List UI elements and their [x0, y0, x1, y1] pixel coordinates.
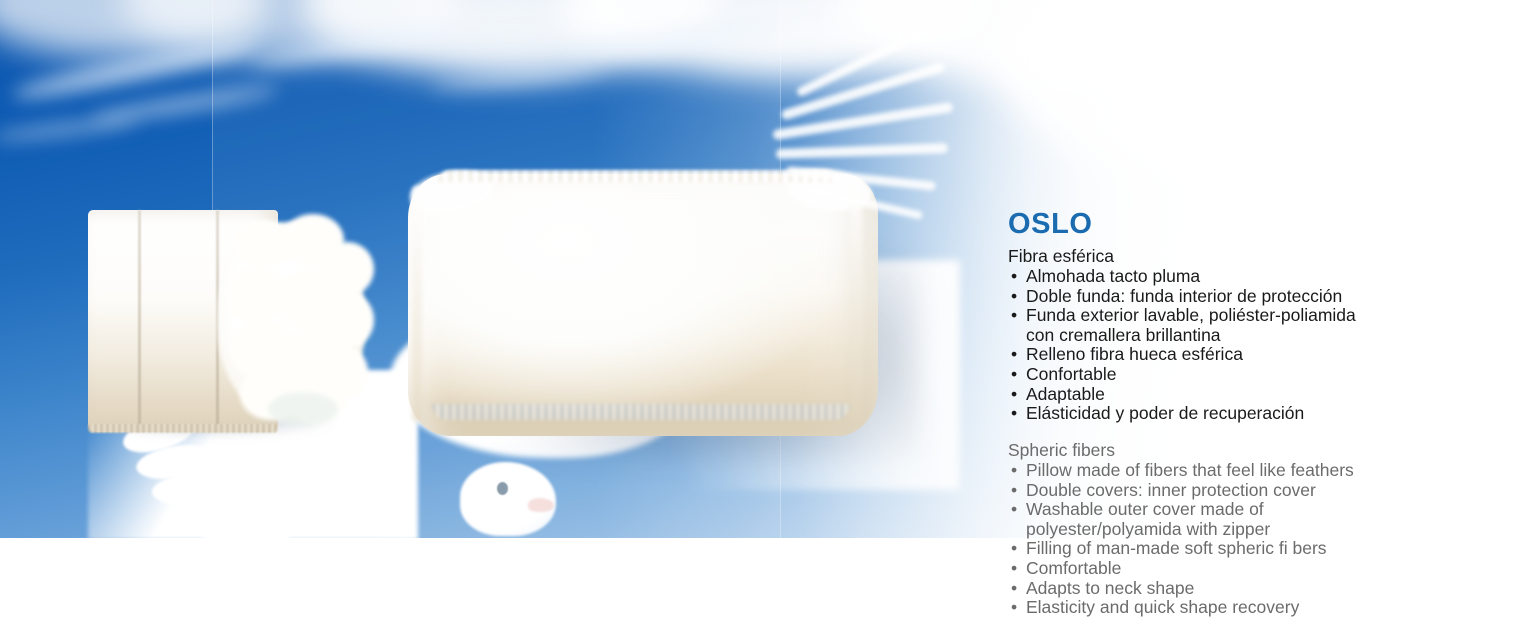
list-item: Elásticidad y poder de recuperación: [1008, 404, 1428, 424]
spanish-feature-list: Almohada tacto pluma Doble funda: funda …: [1008, 267, 1428, 424]
english-feature-list: Pillow made of fibers that feel like fea…: [1008, 461, 1428, 618]
spanish-heading: Fibra esférica: [1008, 246, 1428, 266]
list-item: Double covers: inner protection cover: [1008, 481, 1428, 501]
product-title: OSLO: [1008, 208, 1093, 241]
catalog-page: OSLO Fibra esférica Almohada tacto pluma…: [0, 0, 1527, 640]
list-item: Funda exterior lavable, poliéster-poliam…: [1008, 306, 1428, 345]
list-item: Pillow made of fibers that feel like fea…: [1008, 461, 1428, 481]
list-item: Filling of man-made soft spheric fi bers: [1008, 539, 1428, 559]
list-item: Elasticity and quick shape recovery: [1008, 598, 1428, 618]
product-info-column: OSLO Fibra esférica Almohada tacto pluma…: [1008, 0, 1428, 640]
list-item: Comfortable: [1008, 559, 1428, 579]
list-item: Adaptable: [1008, 385, 1428, 405]
list-item: Doble funda: funda interior de protecció…: [1008, 287, 1428, 307]
list-item: Relleno fibra hueca esférica: [1008, 345, 1428, 365]
english-description-block: Spheric fibers Pillow made of fibers tha…: [1008, 440, 1428, 618]
spanish-description-block: Fibra esférica Almohada tacto pluma Dobl…: [1008, 246, 1428, 424]
list-item: Adapts to neck shape: [1008, 579, 1428, 599]
english-heading: Spheric fibers: [1008, 440, 1428, 460]
list-item: Confortable: [1008, 365, 1428, 385]
list-item: Washable outer cover made of polyester/p…: [1008, 500, 1428, 539]
list-item: Almohada tacto pluma: [1008, 267, 1428, 287]
